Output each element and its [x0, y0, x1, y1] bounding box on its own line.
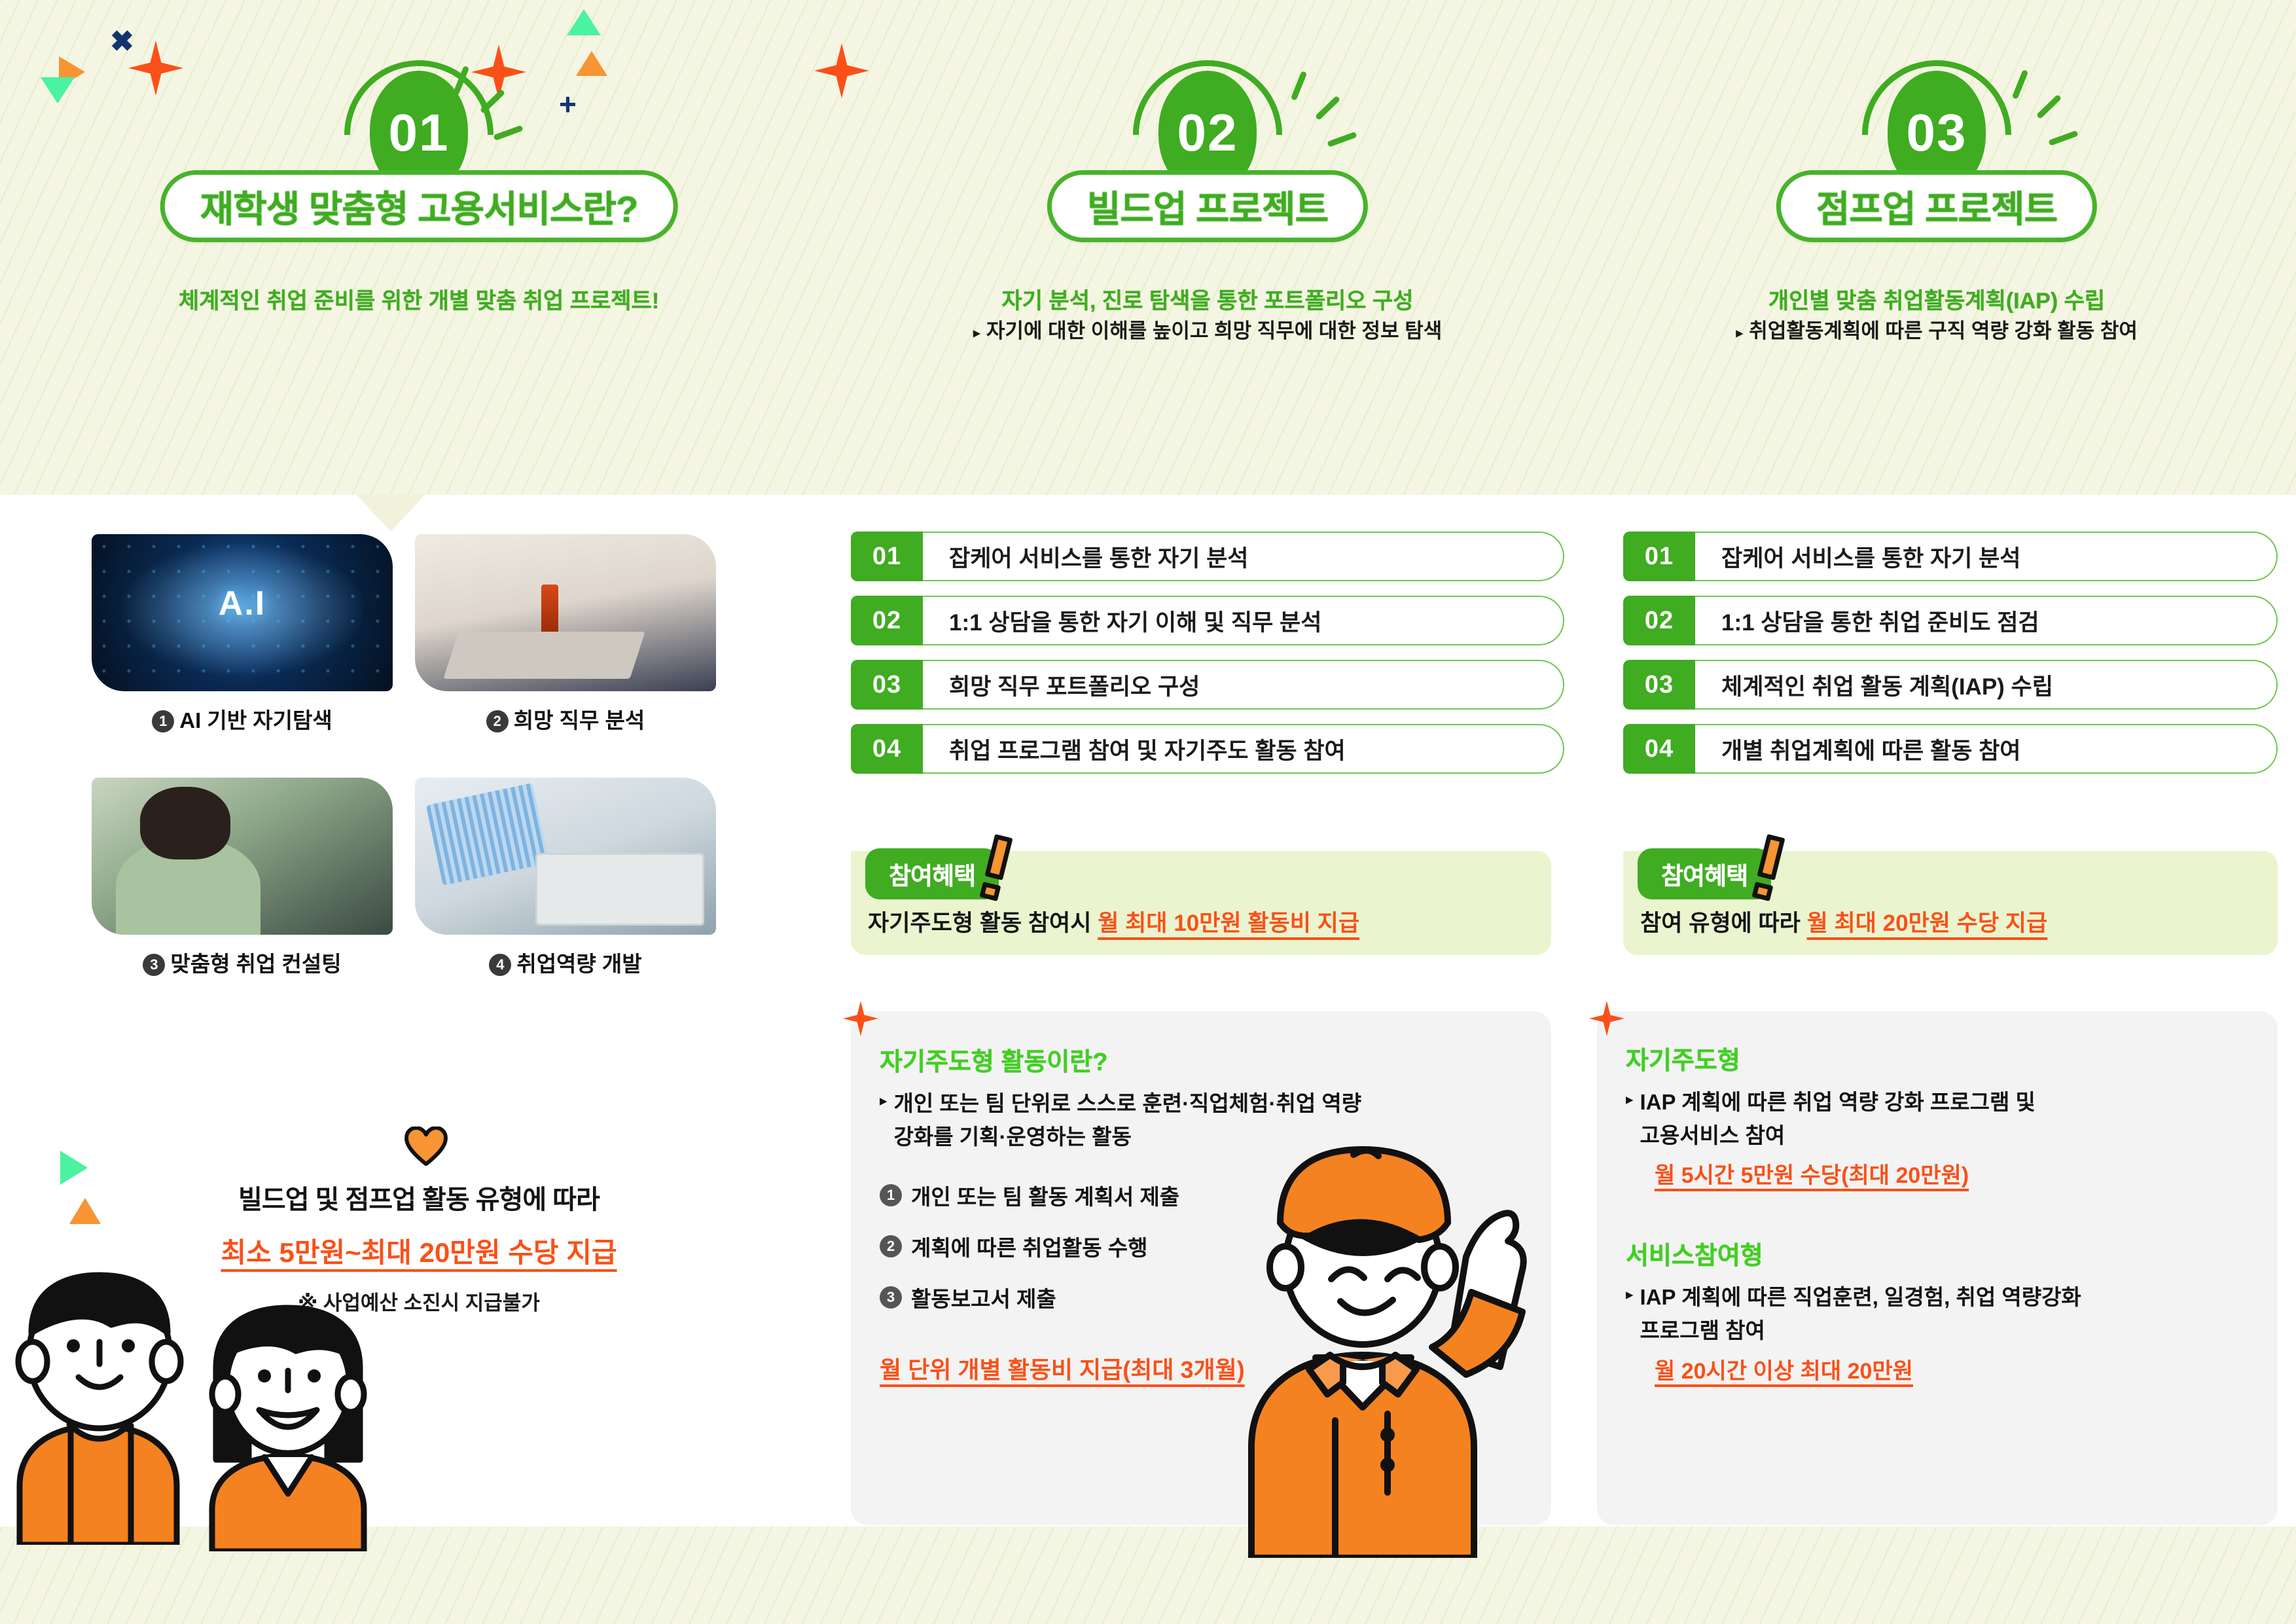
photo-grid: 1AI 기반 자기탐색 2희망 직무 분석 3맞춤형 취업 컨설팅 4취업역량 … [92, 534, 716, 978]
row-text: 희망 직무 포트폴리오 구성 [923, 660, 1564, 710]
bullet-triangle-icon: ▸ [880, 1087, 888, 1153]
column3-header: 03 점프업 프로젝트 개인별 맞춤 취업활동계획(IAP) 수립 ▸ 취업활동… [1577, 0, 2296, 458]
bullet-triangle-icon: ▸ [1626, 1085, 1634, 1152]
speed-line-icon [1327, 132, 1357, 147]
detail-bullet1-line1: IAP 계획에 따른 취업 역량 강화 프로그램 및 [1640, 1090, 2036, 1114]
detail-bullet-line1: 개인 또는 팀 단위로 스스로 훈련·직업체험·취업 역량 [894, 1091, 1362, 1115]
row-text: 잡케어 서비스를 통한 자기 분석 [923, 532, 1564, 581]
column3-subnote: ▸ 취업활동계획에 따른 구직 역량 강화 활동 참여 [1736, 314, 2138, 344]
list-item[interactable]: 02 1:1 상담을 통한 자기 이해 및 직무 분석 [851, 596, 1564, 645]
character-girl [196, 1303, 419, 1551]
column-overview: 01 재학생 맞춤형 고용서비스란? 체계적인 취업 준비를 위한 개별 맞춤 … [0, 0, 838, 458]
detail-bullet-2: ▸ IAP 계획에 따른 직업훈련, 일경험, 취업 역량강화 프로그램 참여 [1626, 1280, 2249, 1347]
detail-amount-2: 월 20시간 이상 최대 20만원 [1655, 1353, 1913, 1385]
heart-icon [404, 1127, 448, 1166]
list-item[interactable]: 04 취업 프로그램 참여 및 자기주도 활동 참여 [851, 724, 1564, 774]
benefit-text-highlight: 월 최대 10만원 활동비 지급 [1098, 911, 1359, 936]
row-number: 03 [851, 660, 923, 710]
row-number: 04 [851, 724, 923, 774]
column2-step-list: 01 잡케어 서비스를 통한 자기 분석 02 1:1 상담을 통한 자기 이해… [851, 532, 1564, 788]
photo-consulting [92, 778, 393, 935]
list-item[interactable]: 01 잡케어 서비스를 통한 자기 분석 [1623, 532, 2278, 581]
row-text: 개별 취업계획에 따른 활동 참여 [1695, 724, 2278, 774]
row-number: 04 [1623, 724, 1695, 774]
bullet-triangle-icon: ▸ [1736, 324, 1744, 341]
row-text: 1:1 상담을 통한 취업 준비도 점검 [1695, 596, 2278, 645]
benefit-badge: 참여혜택 [865, 848, 999, 899]
column1-title-pill: 재학생 맞춤형 고용서비스란? [160, 170, 678, 242]
column1-title: 재학생 맞춤형 고용서비스란? [200, 180, 638, 233]
caption-number-2: 2 [486, 710, 509, 732]
column2-benefit-block: 참여혜택 자기주도형 활동 참여시 월 최대 10만원 활동비 지급 [851, 851, 1551, 955]
speed-line-icon [2048, 130, 2078, 146]
row-text: 취업 프로그램 참여 및 자기주도 활동 참여 [923, 724, 1564, 774]
detail-bullet2-line2: 프로그램 참여 [1640, 1318, 1765, 1343]
column3-title: 점프업 프로젝트 [1816, 180, 2057, 233]
speed-line-icon [2012, 69, 2029, 99]
row-number: 03 [1623, 660, 1695, 710]
benefit-text-highlight: 월 최대 20만원 수당 지급 [1807, 911, 2048, 936]
column2-title: 빌드업 프로젝트 [1087, 180, 1328, 233]
row-number: 02 [851, 596, 923, 645]
list-item[interactable]: 03 희망 직무 포트폴리오 구성 [851, 660, 1564, 710]
caption-text-1: AI 기반 자기탐색 [179, 708, 332, 732]
column3-benefit-block: 참여혜택 참여 유형에 따라 월 최대 20만원 수당 지급 [1623, 851, 2278, 955]
photo-caption-4: 4취업역량 개발 [415, 947, 716, 978]
caption-text-3: 맞춤형 취업 컨설팅 [170, 952, 341, 976]
bottom-line-1: 빌드업 및 점프업 활동 유형에 따라 [0, 1178, 838, 1216]
photo-caption-2: 2희망 직무 분석 [415, 703, 716, 734]
caption-text-2: 희망 직무 분석 [514, 708, 645, 732]
speed-line-icon [1315, 96, 1340, 120]
column-buildup-project: 02 빌드업 프로젝트 자기 분석, 진로 탐색을 통한 포트폴리오 구성 ▸ … [838, 0, 1577, 458]
column2-header: 02 빌드업 프로젝트 자기 분석, 진로 탐색을 통한 포트폴리오 구성 ▸ … [838, 0, 1577, 458]
column2-subtitle: 자기 분석, 진로 탐색을 통한 포트폴리오 구성 [1001, 283, 1413, 315]
row-text: 1:1 상담을 통한 자기 이해 및 직무 분석 [923, 596, 1564, 645]
column3-subnote-text: 취업활동계획에 따른 구직 역량 강화 활동 참여 [1749, 319, 2138, 342]
list-item[interactable]: 03 체계적인 취업 활동 계획(IAP) 수립 [1623, 660, 2278, 710]
caption-number-3: 3 [143, 954, 165, 976]
detail-heading: 자기주도형 활동이란? [880, 1041, 1522, 1077]
photo-ai-exploration [92, 534, 393, 691]
speed-line-icon [493, 125, 523, 141]
column3-title-pill: 점프업 프로젝트 [1776, 170, 2097, 242]
column3-step-list: 01 잡케어 서비스를 통한 자기 분석 02 1:1 상담을 통한 취업 준비… [1623, 532, 2278, 788]
bullet-triangle-icon: ▸ [973, 324, 981, 341]
benefit-text-plain: 자기주도형 활동 참여시 [868, 911, 1098, 936]
bullet-triangle-icon: ▸ [1626, 1280, 1634, 1347]
detail-group-service: 서비스참여형 ▸ IAP 계획에 따른 직업훈련, 일경험, 취업 역량강화 프… [1626, 1235, 2249, 1384]
detail-heading-2: 서비스참여형 [1626, 1235, 2249, 1271]
column1-header: 01 재학생 맞춤형 고용서비스란? 체계적인 취업 준비를 위한 개별 맞춤 … [0, 0, 838, 458]
bottom-line-2-amount: 최소 5만원~최대 20만원 수당 지급 [0, 1231, 838, 1271]
detail-bullet2-line1: IAP 계획에 따른 직업훈련, 일경험, 취업 역량강화 [1640, 1285, 2081, 1309]
detail-bullet1-line2: 고용서비스 참여 [1640, 1123, 1785, 1147]
benefit-text-plain: 참여 유형에 따라 [1640, 911, 1807, 936]
character-cheering-boy [1212, 1139, 1552, 1558]
row-number: 01 [851, 532, 923, 581]
column1-subtitle: 체계적인 취업 준비를 위한 개별 맞춤 취업 프로젝트! [179, 283, 659, 315]
detail-heading-1: 자기주도형 [1626, 1040, 2249, 1076]
row-number: 02 [1623, 596, 1695, 645]
benefit-badge: 참여혜택 [1638, 848, 1771, 899]
speed-line-icon [1291, 71, 1308, 101]
caption-number-4: 4 [489, 954, 511, 976]
detail-bullet-line2: 강화를 기획·운영하는 활동 [894, 1125, 1132, 1149]
photo-caption-3: 3맞춤형 취업 컨설팅 [92, 947, 393, 978]
step-text: 개인 또는 팀 활동 계획서 제출 [911, 1180, 1179, 1211]
list-item[interactable]: 02 1:1 상담을 통한 취업 준비도 점검 [1623, 596, 2278, 645]
caption-text-4: 취업역량 개발 [516, 952, 641, 976]
photo-job-analysis [415, 534, 716, 691]
list-item[interactable]: 04 개별 취업계획에 따른 활동 참여 [1623, 724, 2278, 774]
step-text: 활동보고서 제출 [911, 1282, 1056, 1313]
caption-number-1: 1 [152, 710, 174, 732]
photo-caption-1: 1AI 기반 자기탐색 [92, 703, 393, 734]
column3-subtitle: 개인별 맞춤 취업활동계획(IAP) 수립 [1768, 283, 2105, 315]
pointer-notch [357, 495, 425, 532]
photo-skill-development [415, 778, 716, 935]
row-number: 01 [1623, 532, 1695, 581]
speed-line-icon [2036, 94, 2062, 119]
column2-title-pill: 빌드업 프로젝트 [1047, 170, 1368, 242]
row-text: 체계적인 취업 활동 계획(IAP) 수립 [1695, 660, 2278, 710]
list-item[interactable]: 01 잡케어 서비스를 통한 자기 분석 [851, 532, 1564, 581]
step-text: 계획에 따른 취업활동 수행 [911, 1231, 1147, 1262]
step-number: 1 [880, 1184, 902, 1206]
column2-subnote-text: 자기에 대한 이해를 높이고 희망 직무에 대한 정보 탐색 [986, 319, 1442, 342]
step-number: 2 [880, 1235, 902, 1257]
step-number: 3 [880, 1286, 902, 1308]
column-jumpup-project: 03 점프업 프로젝트 개인별 맞춤 취업활동계획(IAP) 수립 ▸ 취업활동… [1577, 0, 2296, 458]
detail-amount-1: 월 5시간 5만원 수당(최대 20만원) [1655, 1157, 1969, 1189]
column3-detail-box: 자기주도형 ▸ IAP 계획에 따른 취업 역량 강화 프로그램 및 고용서비스… [1597, 1011, 2278, 1525]
column2-subnote: ▸ 자기에 대한 이해를 높이고 희망 직무에 대한 정보 탐색 [973, 314, 1443, 344]
detail-group-self-directed: 자기주도형 ▸ IAP 계획에 따른 취업 역량 강화 프로그램 및 고용서비스… [1626, 1040, 2249, 1189]
detail-bullet-1: ▸ IAP 계획에 따른 취업 역량 강화 프로그램 및 고용서비스 참여 [1626, 1085, 2249, 1152]
row-text: 잡케어 서비스를 통한 자기 분석 [1695, 532, 2278, 581]
